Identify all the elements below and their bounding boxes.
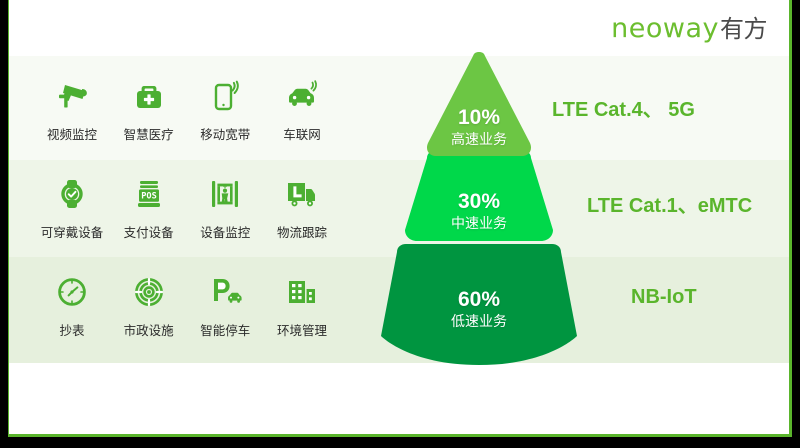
video-camera-icon	[50, 74, 94, 118]
icon-label: 抄表	[59, 320, 84, 339]
medical-kit-icon	[127, 74, 171, 118]
elevator-monitor-icon	[203, 172, 247, 216]
icon-label: 设备监控	[200, 222, 250, 241]
icon-cell-municipal-facility[interactable]: 市政设施	[114, 270, 184, 339]
pos-terminal-icon: POS	[127, 172, 171, 216]
mobile-phone-signal-icon	[203, 74, 247, 118]
icon-cell-payment-device[interactable]: POS 支付设备	[114, 172, 184, 241]
municipal-target-icon	[127, 270, 171, 314]
icon-row-high-speed: 视频监控 智慧医疗	[37, 74, 337, 143]
icon-label: 移动宽带	[200, 124, 250, 143]
smart-parking-icon	[203, 270, 247, 314]
icon-cell-smart-parking[interactable]: 智能停车	[190, 270, 260, 339]
icon-cell-smart-medical[interactable]: 智慧医疗	[114, 74, 184, 143]
tech-label-low-speed: NB-IoT	[631, 286, 697, 309]
icon-cell-video-surveillance[interactable]: 视频监控	[37, 74, 107, 143]
meter-gauge-icon	[50, 270, 94, 314]
icon-cell-mobile-broadband[interactable]: 移动宽带	[190, 74, 260, 143]
icon-row-low-speed: 抄表 市政	[37, 270, 337, 339]
icon-label: 支付设备	[124, 222, 174, 241]
icon-label: 智能停车	[200, 320, 250, 339]
icon-cell-wearable-device[interactable]: 可穿戴设备	[37, 172, 107, 241]
neoway-logo: neoway有方	[611, 9, 767, 44]
tech-label-mid-speed: LTE Cat.1、eMTC	[587, 189, 752, 218]
icon-label: 智慧医疗	[124, 124, 174, 143]
icon-cell-meter-reading[interactable]: 抄表	[37, 270, 107, 339]
svg-text:POS: POS	[141, 192, 157, 202]
logo-chinese-name: 有方	[720, 15, 767, 43]
icon-cell-device-monitoring[interactable]: 设备监控	[190, 172, 260, 241]
smartwatch-icon	[50, 172, 94, 216]
icon-label: 市政设施	[124, 320, 174, 339]
icon-label: 视频监控	[47, 124, 97, 143]
icon-label: 可穿戴设备	[41, 222, 104, 241]
icon-row-mid-speed: 可穿戴设备 POS 支付设备	[37, 172, 337, 241]
slide-canvas: neoway有方 视频监控	[8, 0, 792, 437]
tech-label-high-speed: LTE Cat.4、 5G	[552, 93, 695, 122]
